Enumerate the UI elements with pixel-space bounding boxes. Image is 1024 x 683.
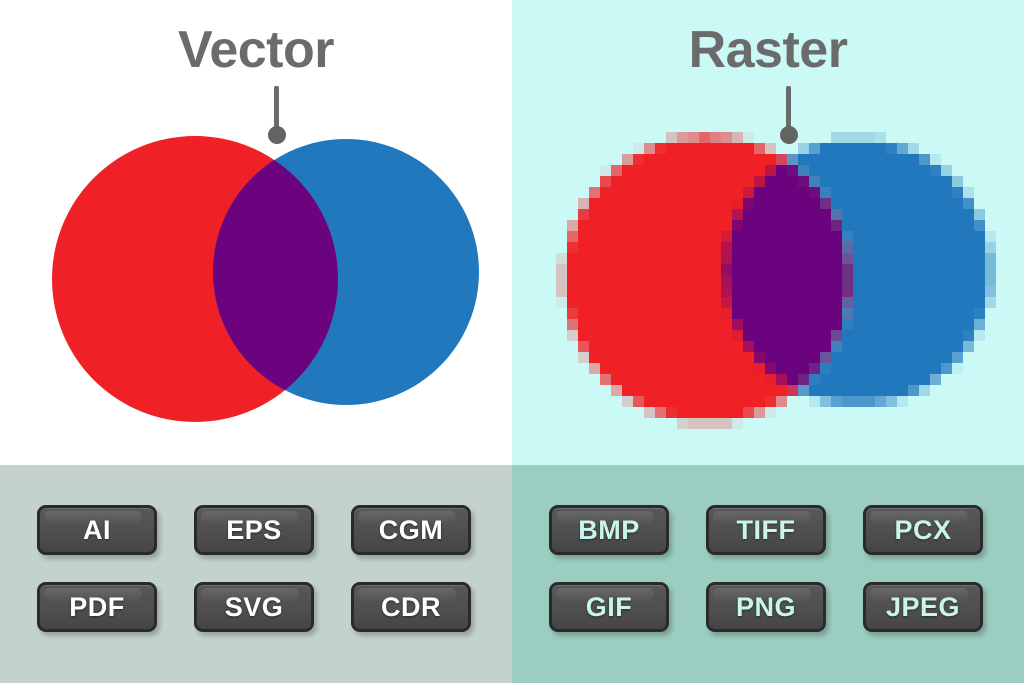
vector-panel-title: Vector xyxy=(0,24,512,76)
format-badge-label: TIFF xyxy=(737,517,796,544)
infographic-stage: Vector Raster AIEPSCGMPDFSVGCDR BMPTIFFP… xyxy=(0,0,1024,683)
format-badge-label: BMP xyxy=(578,517,640,544)
format-badge-label: JPEG xyxy=(886,594,960,621)
raster-format-badge-grid: BMPTIFFPCXGIFPNGJPEG xyxy=(549,505,989,632)
format-badge-tiff[interactable]: TIFF xyxy=(706,505,826,555)
format-badge-bmp[interactable]: BMP xyxy=(549,505,669,555)
format-badge-cdr[interactable]: CDR xyxy=(351,582,471,632)
format-badge-pcx[interactable]: PCX xyxy=(863,505,983,555)
format-badge-label: CDR xyxy=(381,594,441,621)
raster-leader-dot-icon xyxy=(780,126,798,144)
format-badge-png[interactable]: PNG xyxy=(706,582,826,632)
format-badge-pdf[interactable]: PDF xyxy=(37,582,157,632)
format-badge-label: PDF xyxy=(69,594,125,621)
raster-formats-panel: BMPTIFFPCXGIFPNGJPEG xyxy=(512,465,1024,683)
format-badge-gif[interactable]: GIF xyxy=(549,582,669,632)
format-badge-label: GIF xyxy=(586,594,633,621)
format-badge-jpeg[interactable]: JPEG xyxy=(863,582,983,632)
format-badge-cgm[interactable]: CGM xyxy=(351,505,471,555)
format-badge-label: PCX xyxy=(894,517,951,544)
format-badge-label: PNG xyxy=(736,594,796,621)
format-badge-svg[interactable]: SVG xyxy=(194,582,314,632)
raster-panel-title: Raster xyxy=(512,24,1024,76)
format-badge-ai[interactable]: AI xyxy=(37,505,157,555)
format-badge-label: AI xyxy=(83,517,111,544)
raster-panel: Raster xyxy=(512,0,1024,465)
format-badge-eps[interactable]: EPS xyxy=(194,505,314,555)
format-badge-label: CGM xyxy=(379,517,444,544)
vector-panel: Vector xyxy=(0,0,512,465)
format-badge-label: SVG xyxy=(225,594,284,621)
vector-format-badge-grid: AIEPSCGMPDFSVGCDR xyxy=(37,505,477,632)
vector-leader-dot-icon xyxy=(268,126,286,144)
vector-formats-panel: AIEPSCGMPDFSVGCDR xyxy=(0,465,512,683)
format-badge-label: EPS xyxy=(226,517,282,544)
